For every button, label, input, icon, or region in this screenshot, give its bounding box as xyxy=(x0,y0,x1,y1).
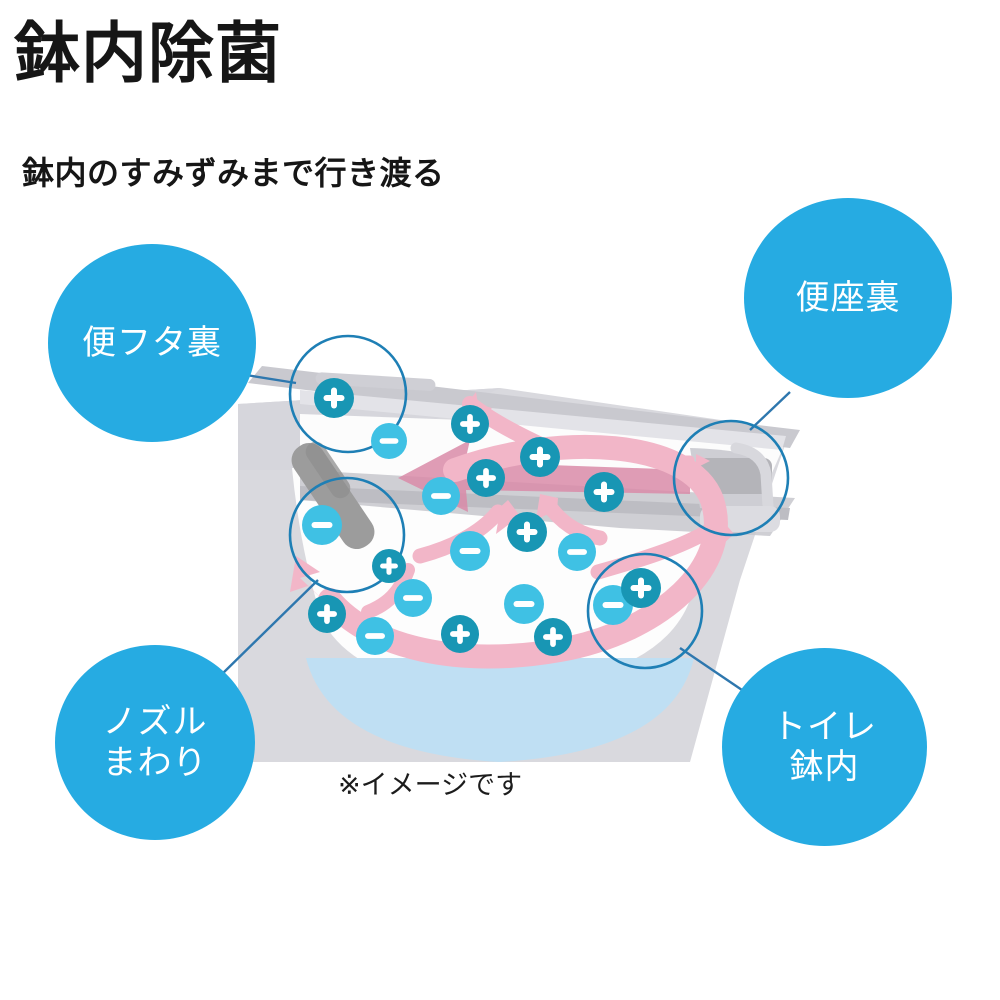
plus-ion-icon xyxy=(314,378,354,418)
bowl-interior xyxy=(292,414,790,690)
callout-nozzle[interactable]: ノズル まわり xyxy=(55,645,255,840)
callout-lid[interactable]: 便フタ裏 xyxy=(48,244,256,442)
image-disclaimer-note: ※イメージです xyxy=(338,763,522,802)
callout-bowl-label: トイレ 鉢内 xyxy=(772,707,877,787)
seat-back-pad xyxy=(690,448,780,532)
plus-ion-icon xyxy=(308,595,346,633)
illustration-page: 鉢内除菌 鉢内のすみずみまで行き渡る xyxy=(0,0,1000,1000)
magnifier-bowl xyxy=(588,554,702,668)
callout-lid-label: 便フタ裏 xyxy=(82,323,222,363)
plus-ion-icon xyxy=(441,615,479,653)
toilet-body xyxy=(238,388,790,762)
callout-nozzle-label: ノズル まわり xyxy=(103,702,208,782)
callout-nozzle-line2: まわり xyxy=(103,743,208,783)
minus-ion-icon xyxy=(422,477,460,515)
page-subtitle: 鉢内のすみずみまで行き渡る xyxy=(22,148,445,194)
page-title: 鉢内除菌 xyxy=(14,16,282,92)
magnifier-lid xyxy=(290,336,406,452)
ion-bubbles xyxy=(302,378,661,656)
minus-ion-icon xyxy=(394,579,432,617)
airflow-arrows xyxy=(290,392,734,657)
plus-ion-icon xyxy=(451,405,489,443)
connector-bowl xyxy=(680,648,742,690)
nozzle xyxy=(285,437,380,555)
plus-ion-icon xyxy=(372,549,406,583)
minus-ion-icon xyxy=(302,505,342,545)
callout-seat[interactable]: 便座裏 xyxy=(744,198,952,398)
callout-bowl-line2: 鉢内 xyxy=(772,747,877,787)
callout-bowl[interactable]: トイレ 鉢内 xyxy=(722,648,927,846)
minus-ion-icon xyxy=(371,423,407,459)
connector-nozzle xyxy=(218,580,318,678)
connector-lid xyxy=(246,375,296,383)
plus-ion-icon xyxy=(534,618,572,656)
bowl-water xyxy=(306,640,694,768)
magnifier-seat xyxy=(674,421,788,535)
connector-seat xyxy=(750,392,790,430)
plus-ion-icon xyxy=(621,568,661,608)
connector-lines xyxy=(218,375,790,690)
callout-nozzle-line1: ノズル xyxy=(103,702,208,742)
toilet-lid xyxy=(248,366,800,450)
plus-ion-icon xyxy=(584,472,624,512)
minus-ion-icon xyxy=(558,533,596,571)
plus-ion-icon xyxy=(520,437,560,477)
toilet-seat xyxy=(300,470,795,536)
minus-ion-icon xyxy=(504,584,544,624)
plus-ion-icon xyxy=(467,459,505,497)
minus-ion-icon xyxy=(450,531,490,571)
plus-ion-icon xyxy=(507,512,547,552)
callout-bowl-line1: トイレ xyxy=(772,707,877,747)
minus-ion-icon xyxy=(356,617,394,655)
magnifier-nozzle xyxy=(290,478,404,592)
magnifier-circles xyxy=(290,336,788,668)
callout-seat-label: 便座裏 xyxy=(796,278,901,318)
minus-ion-icon xyxy=(593,585,633,625)
